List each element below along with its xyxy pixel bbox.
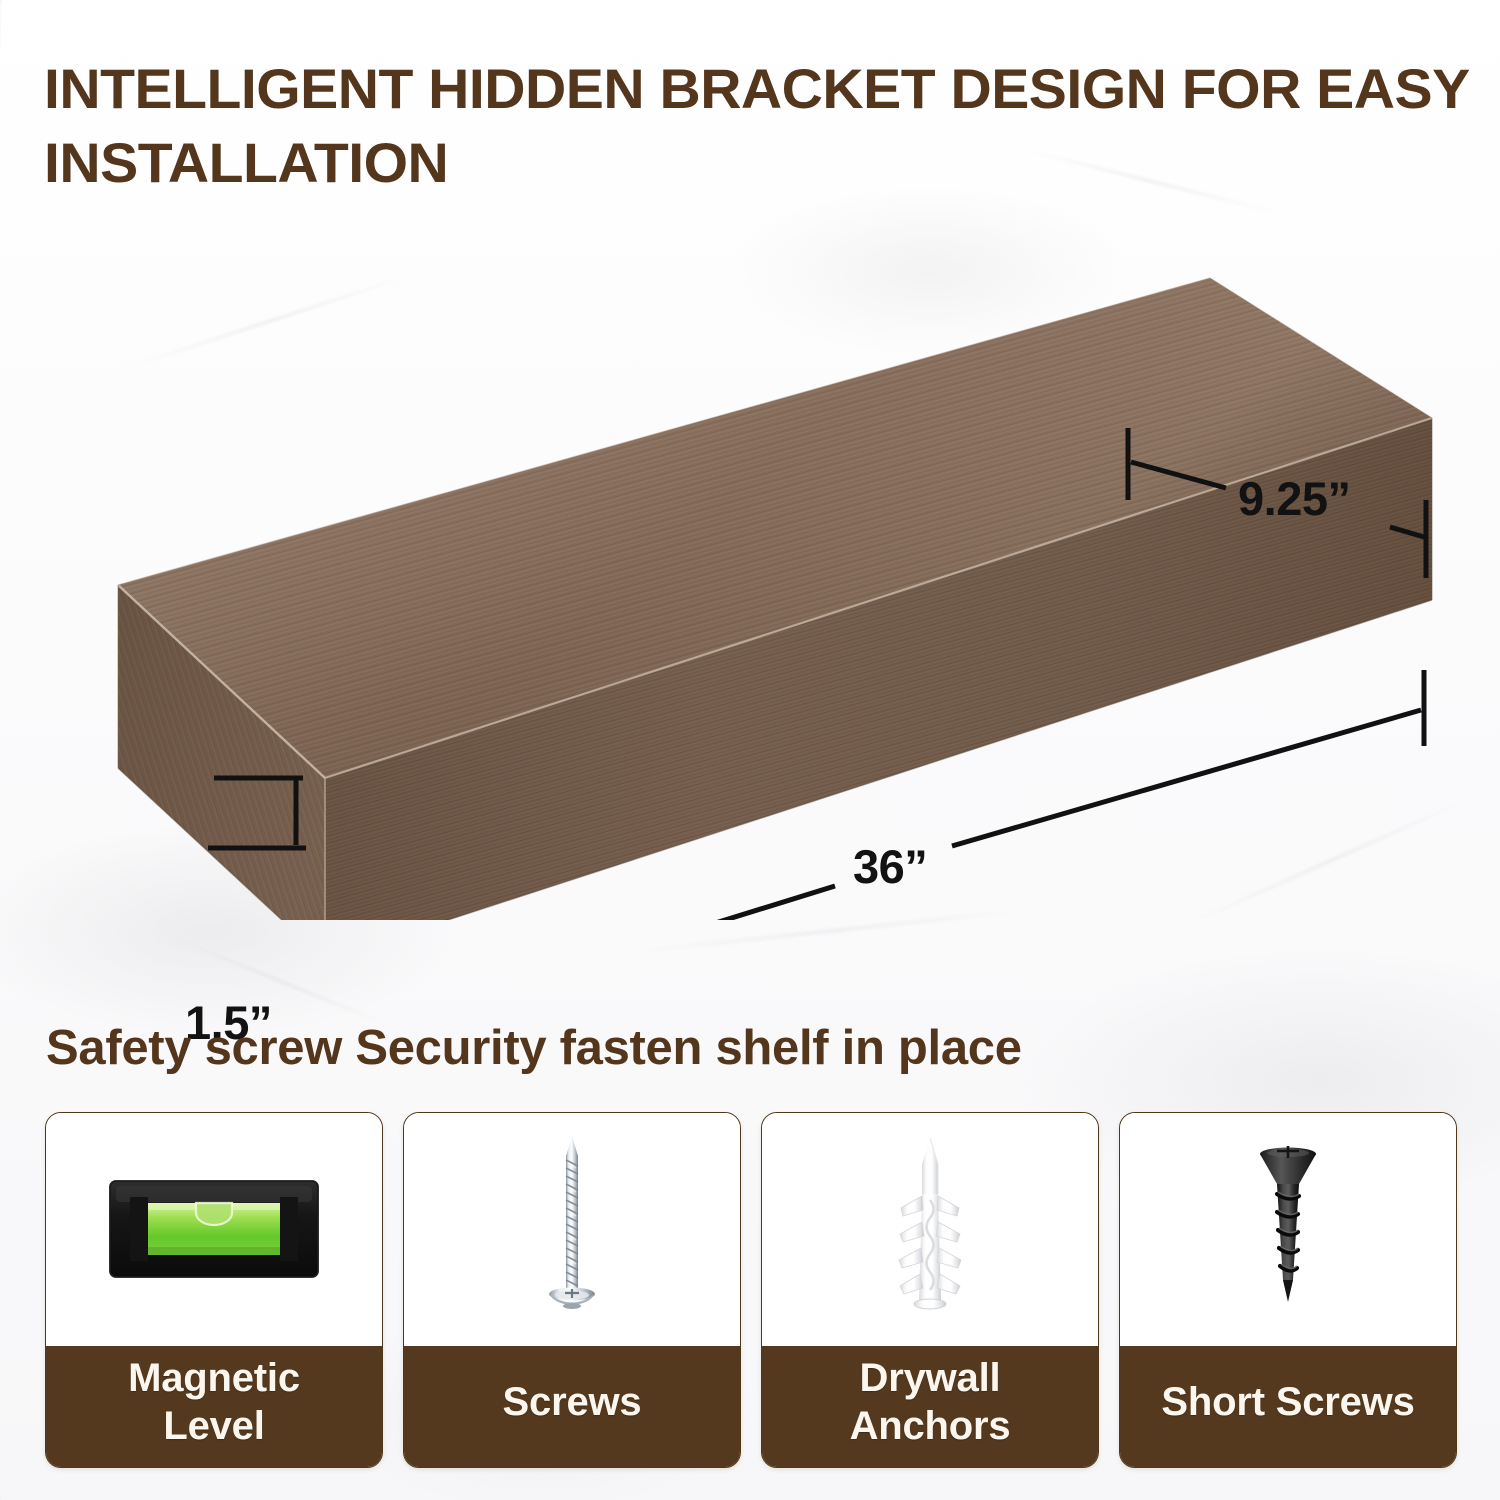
infographic-page: INTELLIGENT HIDDEN BRACKET DESIGN FOR EA… xyxy=(0,0,1500,1500)
drywall-anchor-icon xyxy=(875,1130,985,1330)
card-media xyxy=(762,1113,1098,1346)
accessory-card-label: Drywall Anchors xyxy=(762,1346,1098,1467)
card-media xyxy=(46,1113,382,1346)
accessory-card-label: Screws xyxy=(404,1346,740,1467)
product-illustration: 9.25” 36” 1.5” xyxy=(0,200,1500,920)
card-media xyxy=(1120,1113,1456,1346)
dimension-label-length: 36” xyxy=(853,839,927,894)
screw-icon xyxy=(527,1130,617,1330)
accessory-card-drywall-anchors[interactable]: Drywall Anchors xyxy=(761,1112,1099,1468)
shelf-solid xyxy=(118,278,1432,920)
short-screw-icon xyxy=(1233,1130,1343,1330)
accessory-card-label: Magnetic Level xyxy=(46,1346,382,1467)
accessory-card-screws[interactable]: Screws xyxy=(403,1112,741,1468)
accessory-card-list: Magnetic Level xyxy=(45,1112,1457,1468)
accessory-card-label: Short Screws xyxy=(1120,1346,1456,1467)
section-subtitle: Safety screw Security fasten shelf in pl… xyxy=(46,1022,1446,1076)
dimension-label-depth: 9.25” xyxy=(1238,471,1350,526)
accessory-card-magnetic-level[interactable]: Magnetic Level xyxy=(45,1112,383,1468)
magnetic-level-icon xyxy=(104,1175,324,1285)
page-title: INTELLIGENT HIDDEN BRACKET DESIGN FOR EA… xyxy=(44,52,1492,201)
card-media xyxy=(404,1113,740,1346)
accessory-card-short-screws[interactable]: Short Screws xyxy=(1119,1112,1457,1468)
